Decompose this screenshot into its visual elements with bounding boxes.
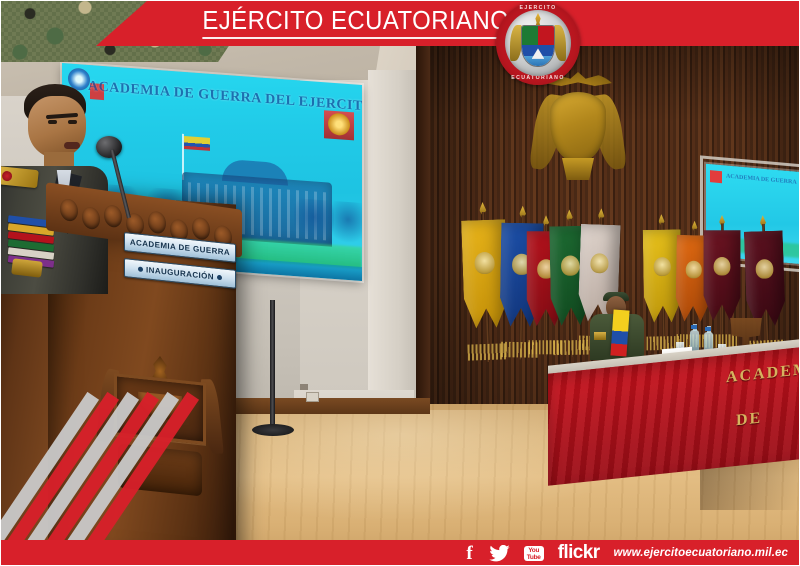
wall-column [368, 70, 420, 430]
lamp-flame-icon [148, 355, 172, 380]
shield-icon [550, 92, 606, 162]
podium-carved-emblem [104, 350, 216, 512]
wall-socket [306, 392, 319, 402]
emblem-base [558, 158, 598, 180]
wooden-wall-edge [416, 34, 430, 434]
microphone-head-icon [96, 136, 122, 158]
flag-crest-icon [590, 253, 609, 273]
podium-carving-boss [82, 206, 100, 231]
facebook-icon[interactable]: f [464, 544, 474, 563]
youtube-icon[interactable]: You Tube [524, 546, 544, 561]
flag-crest-icon [561, 255, 580, 276]
plaque-dot-icon [217, 275, 222, 281]
ecuador-sash [610, 309, 629, 356]
projection-side-title: ACADEMIA DE GUERRA [726, 174, 797, 186]
podium-carving-boss [148, 210, 166, 235]
youtube-label-top: You [524, 547, 544, 554]
officer-medal [594, 332, 606, 340]
projection-side-badge [710, 170, 722, 183]
flag-crest-icon [474, 252, 495, 275]
speaker-mouth [64, 142, 80, 149]
event-photograph: ACADEMIA DE GUERRA DEL EJERCITO ACADEMIA… [0, 0, 800, 566]
projection-title: ACADEMIA DE GUERRA DEL EJERCITO [88, 79, 348, 114]
bottle-cap [705, 327, 711, 331]
shield-quarter-green [522, 26, 538, 45]
projection-tree [328, 201, 362, 248]
youtube-label-bottom: Tube [524, 554, 544, 561]
speaker-eye-right [68, 120, 77, 124]
flag-crest-icon [653, 257, 671, 276]
flag-crest-icon [686, 261, 702, 279]
projection-flag-icon [184, 136, 210, 151]
flickr-logo[interactable]: flickr [558, 542, 600, 564]
bottle-cap [691, 325, 697, 329]
plaque-label-2: INAUGURACIÓN [146, 265, 214, 281]
speaker-epaulette [0, 166, 39, 189]
twitter-icon[interactable] [489, 545, 510, 562]
speaker-eye-left [48, 120, 57, 124]
website-url[interactable]: www.ejercitoecuatoriano.mil.ec [614, 547, 789, 559]
header-title-text: EJÉRCITO ECUATORIANO [203, 7, 510, 39]
podium-carving-boss [192, 216, 210, 241]
microphone-stand-base [252, 424, 294, 436]
flag-crest-icon [755, 259, 773, 279]
plaque-dot-icon [138, 266, 143, 272]
podium-emblem-scroll [118, 444, 202, 497]
army-emblem-icon: EJERCITO ECUATORIANO [496, 1, 580, 85]
ecuador-coat-of-arms-icon [534, 72, 622, 184]
microphone-stand [270, 300, 275, 430]
podium-carving-boss [104, 204, 122, 229]
screenshot-root: ACADEMIA DE GUERRA DEL EJERCITO ACADEMIA… [0, 0, 800, 566]
footer-content: f You Tube flickr www.ejercitoecuatorian… [0, 540, 800, 566]
emblem-shield-icon [521, 25, 555, 67]
shield-quarter-red [538, 26, 554, 45]
podium-carving-boss [60, 198, 78, 223]
seated-officer [586, 292, 648, 360]
flag-crest-icon [714, 257, 731, 275]
